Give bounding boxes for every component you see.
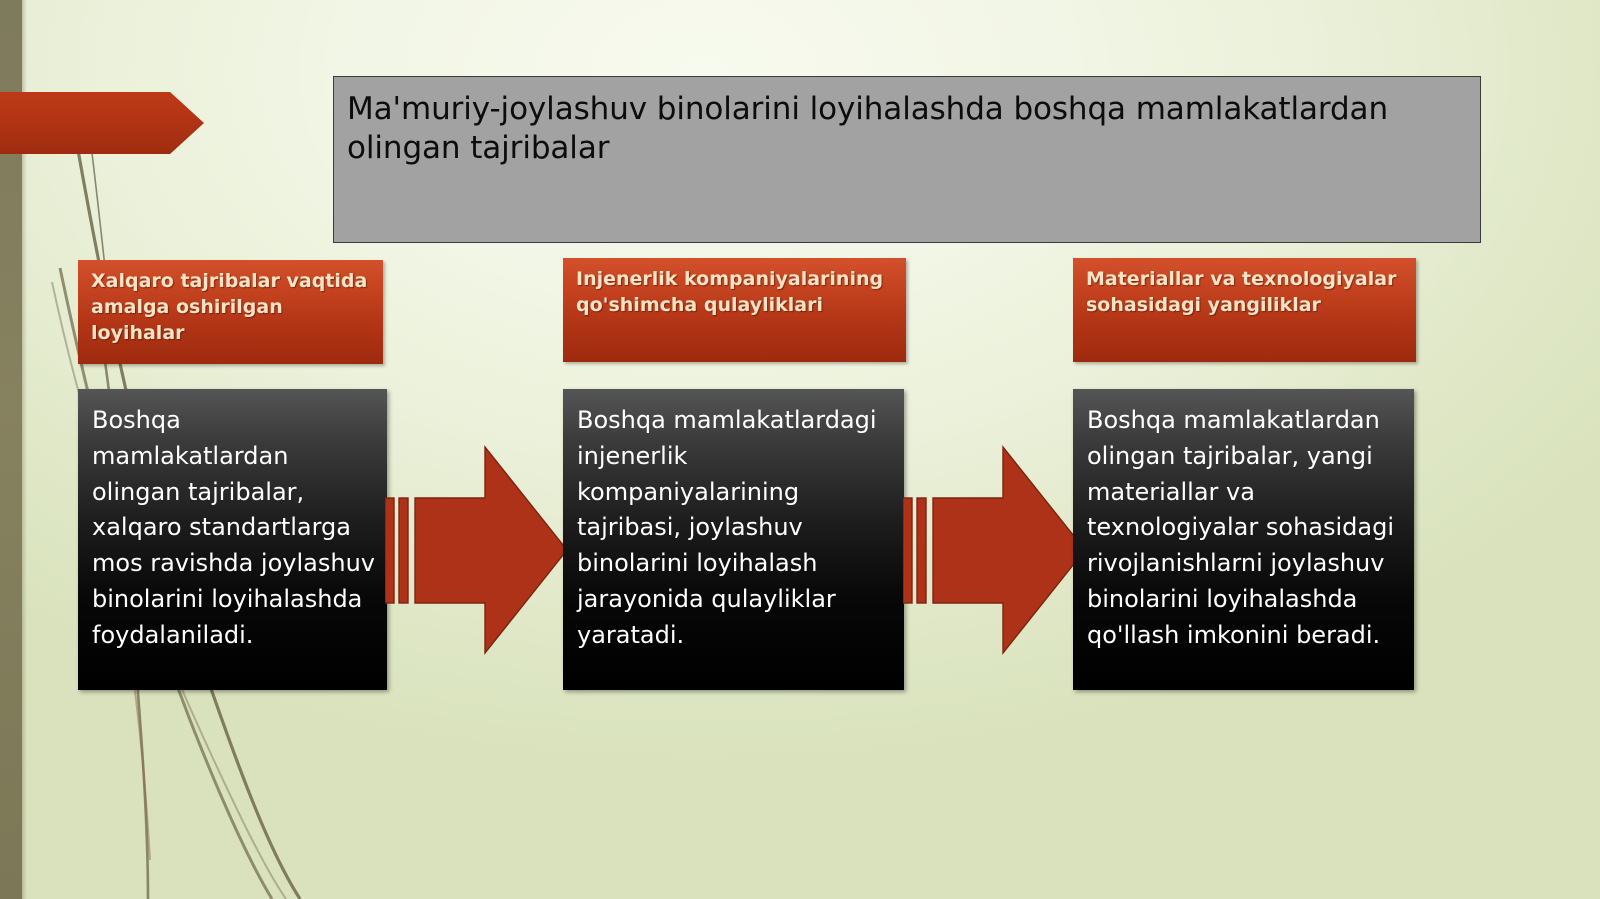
column-header-label-2: Injenerlik kompaniyalarining qo'shimcha … [576,267,898,319]
column-header-2[interactable]: Injenerlik kompaniyalarining qo'shimcha … [563,258,906,362]
column-header-label-3: Materiallar va texnologiyalar sohasidagi… [1086,267,1408,319]
column-header-1[interactable]: Xalqaro tajribalar vaqtida amalga oshiri… [78,260,383,364]
flow-arrow-right-2 [903,435,1093,665]
slide-title-box: Ma'muriy-joylashuv binolarini loyihalash… [333,76,1481,243]
column-body-label-2: Boshqa mamlakatlardagi injenerlik kompan… [577,403,896,653]
column-header-label-1: Xalqaro tajribalar vaqtida amalga oshiri… [91,269,375,346]
column-body-2[interactable]: Boshqa mamlakatlardagi injenerlik kompan… [563,389,904,690]
column-body-label-3: Boshqa mamlakatlardan olingan tajribalar… [1087,403,1406,653]
column-body-3[interactable]: Boshqa mamlakatlardan olingan tajribalar… [1073,389,1414,690]
slide-canvas: Ma'muriy-joylashuv binolarini loyihalash… [0,0,1600,899]
page-title: Ma'muriy-joylashuv binolarini loyihalash… [347,90,1466,168]
column-body-label-1: Boshqa mamlakatlardan olingan tajribalar… [92,403,379,653]
flow-arrow-right-1 [385,435,575,665]
column-body-1[interactable]: Boshqa mamlakatlardan olingan tajribalar… [78,389,387,690]
column-header-3[interactable]: Materiallar va texnologiyalar sohasidagi… [1073,258,1416,362]
left-chevron-banner [0,92,204,154]
